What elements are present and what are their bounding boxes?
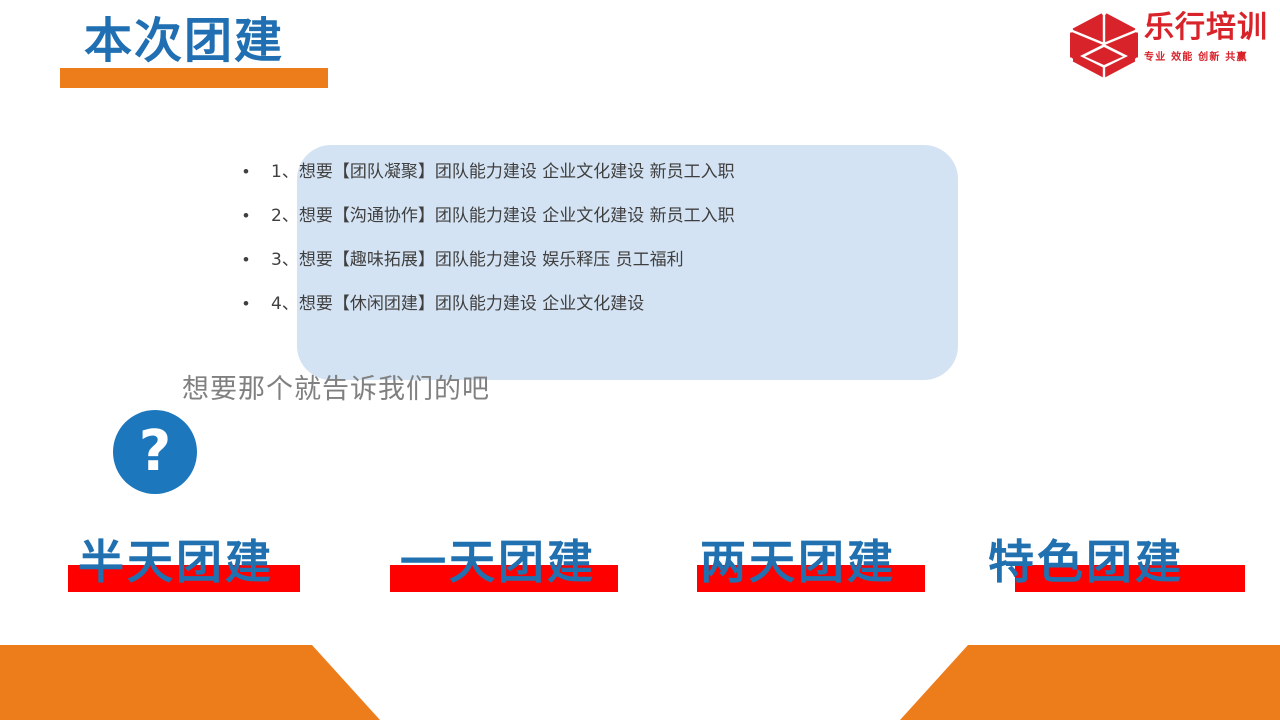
brand-tagline: 专业 效能 创新 共赢 — [1144, 50, 1274, 66]
list-item-label: 1、想要【团队凝聚】团队能力建设 企业文化建设 新员工入职 — [271, 150, 735, 194]
page-title: 本次团建 — [84, 11, 284, 71]
question-speech-bubble-icon: ? — [113, 410, 205, 502]
slide-canvas: 乐行培训 专业 效能 创新 共赢 本次团建 • 1、想要【团队凝聚】团队能力建设… — [0, 0, 1280, 720]
bullet-marker-icon: • — [243, 282, 271, 326]
category-label: 两天团建 — [700, 530, 896, 594]
brand-logo: 乐行培训 专业 效能 创新 共赢 — [1068, 6, 1274, 84]
list-item-label: 3、想要【趣味拓展】团队能力建设 娱乐释压 员工福利 — [271, 238, 684, 282]
question-mark-glyph: ? — [113, 410, 197, 494]
category-label: 一天团建 — [400, 530, 596, 594]
bullet-marker-icon: • — [243, 194, 271, 238]
list-item: • 1、想要【团队凝聚】团队能力建设 企业文化建设 新员工入职 — [243, 150, 1143, 194]
cube-logo-icon — [1068, 10, 1140, 80]
bullet-marker-icon: • — [243, 238, 271, 282]
category-label: 特色团建 — [988, 530, 1184, 594]
brand-name: 乐行培训 — [1144, 10, 1274, 46]
list-item: • 4、想要【休闲团建】团队能力建设 企业文化建设 — [243, 282, 1143, 326]
list-item: • 3、想要【趣味拓展】团队能力建设 娱乐释压 员工福利 — [243, 238, 1143, 282]
brand-logo-text: 乐行培训 专业 效能 创新 共赢 — [1144, 10, 1274, 66]
category-label: 半天团建 — [78, 530, 274, 594]
footer-shape-left — [0, 645, 380, 720]
title-underline-bar — [60, 68, 328, 88]
bullet-marker-icon: • — [243, 150, 271, 194]
list-item-label: 2、想要【沟通协作】团队能力建设 企业文化建设 新员工入职 — [271, 194, 735, 238]
list-item: • 2、想要【沟通协作】团队能力建设 企业文化建设 新员工入职 — [243, 194, 1143, 238]
footer-shape-right — [900, 645, 1280, 720]
list-item-label: 4、想要【休闲团建】团队能力建设 企业文化建设 — [271, 282, 644, 326]
bullet-list: • 1、想要【团队凝聚】团队能力建设 企业文化建设 新员工入职 • 2、想要【沟… — [243, 150, 1143, 326]
sub-caption: 想要那个就告诉我们的吧 — [182, 371, 490, 409]
